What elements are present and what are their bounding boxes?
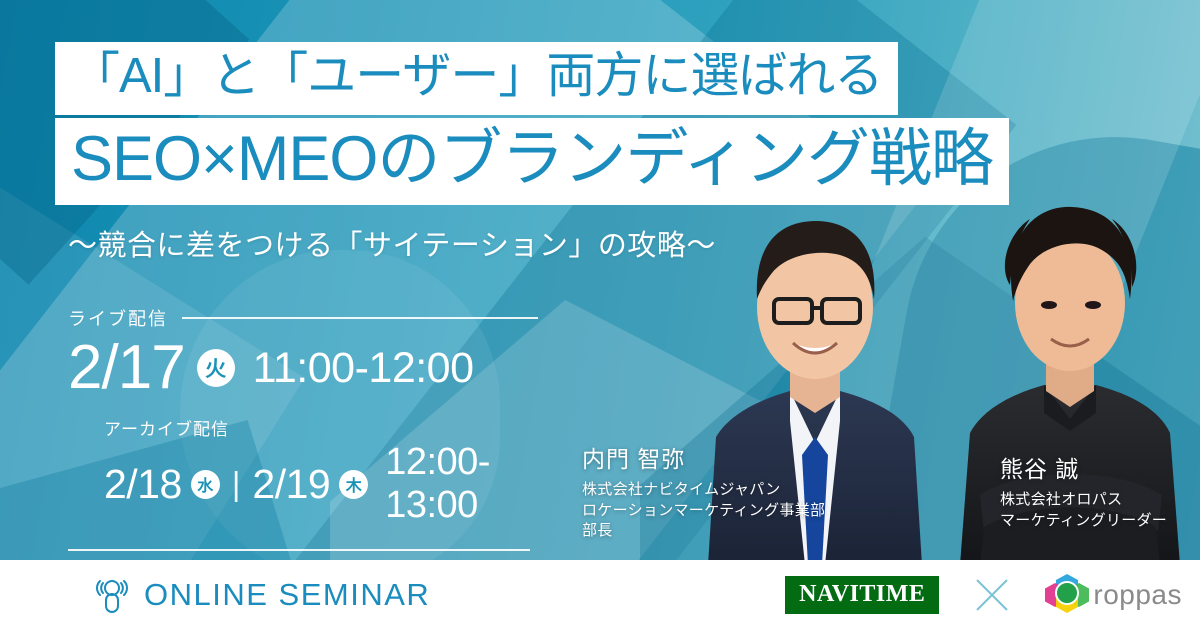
archive-label: アーカイブ配信 (104, 415, 538, 440)
schedule-block: ライブ配信 2/17 火 11:00-12:00 アーカイブ配信 2/18 水 … (68, 305, 538, 551)
footer-bar: ONLINE SEMINAR NAVITIME (0, 560, 1200, 630)
heading-rule (182, 317, 538, 319)
subtitle: 〜競合に差をつける「サイテーション」の攻略〜 (68, 222, 716, 264)
online-seminar-block: ONLINE SEMINAR (92, 575, 430, 615)
speaker-name: 熊谷 誠 (1000, 450, 1167, 484)
colorful-petal-flower-icon (1045, 571, 1089, 620)
live-date: 2/17 (68, 337, 185, 399)
speaker-org-line-1: 株式会社ナビタイムジャパン (582, 480, 825, 501)
speaker-info-2: 熊谷 誠 株式会社オロパス マーケティングリーダー (1000, 450, 1167, 531)
schedule-bottom-rule (68, 549, 530, 551)
oroppas-logo-text: roppas (1093, 579, 1182, 611)
x-cross-icon (973, 576, 1011, 614)
live-heading: ライブ配信 (68, 305, 538, 331)
live-day-of-week-badge: 火 (197, 349, 235, 387)
live-datetime-row: 2/17 火 11:00-12:00 (68, 337, 538, 399)
speaker-name: 内門 智弥 (582, 440, 825, 474)
title-line-1: 「AI」と「ユーザー」両方に選ばれる (55, 42, 898, 115)
oroppas-logo: roppas (1045, 571, 1182, 620)
speaker-org-line-2: マーケティングリーダー (1000, 511, 1167, 532)
speaker-info-1: 内門 智弥 株式会社ナビタイムジャパン ロケーションマーケティング事業部 部長 (582, 440, 825, 542)
online-seminar-label: ONLINE SEMINAR (144, 577, 430, 613)
archive-datetime-row: 2/18 水 | 2/19 木 12:00-13:00 (104, 441, 538, 527)
live-label: ライブ配信 (68, 305, 168, 331)
archive-date-separator: | (232, 465, 241, 503)
speaker-org-line-1: 株式会社オロパス (1000, 490, 1167, 511)
live-time: 11:00-12:00 (253, 344, 474, 393)
navitime-logo: NAVITIME (785, 576, 939, 614)
archive-time: 12:00-13:00 (385, 441, 538, 527)
archive-date-1: 2/18 (104, 464, 182, 505)
speaker-org-line-3: 部長 (582, 521, 825, 542)
archive-day-of-week-badge-2: 木 (339, 470, 368, 499)
webinar-banner: 「AI」と「ユーザー」両方に選ばれる SEO×MEOのブランディング戦略 〜競合… (0, 0, 1200, 630)
archive-date-2: 2/19 (252, 464, 330, 505)
partner-logos: NAVITIME ro (785, 571, 1182, 620)
archive-day-of-week-badge-1: 水 (191, 470, 220, 499)
speaker-org-line-2: ロケーションマーケティング事業部 (582, 501, 825, 522)
broadcast-antenna-icon (92, 575, 132, 615)
